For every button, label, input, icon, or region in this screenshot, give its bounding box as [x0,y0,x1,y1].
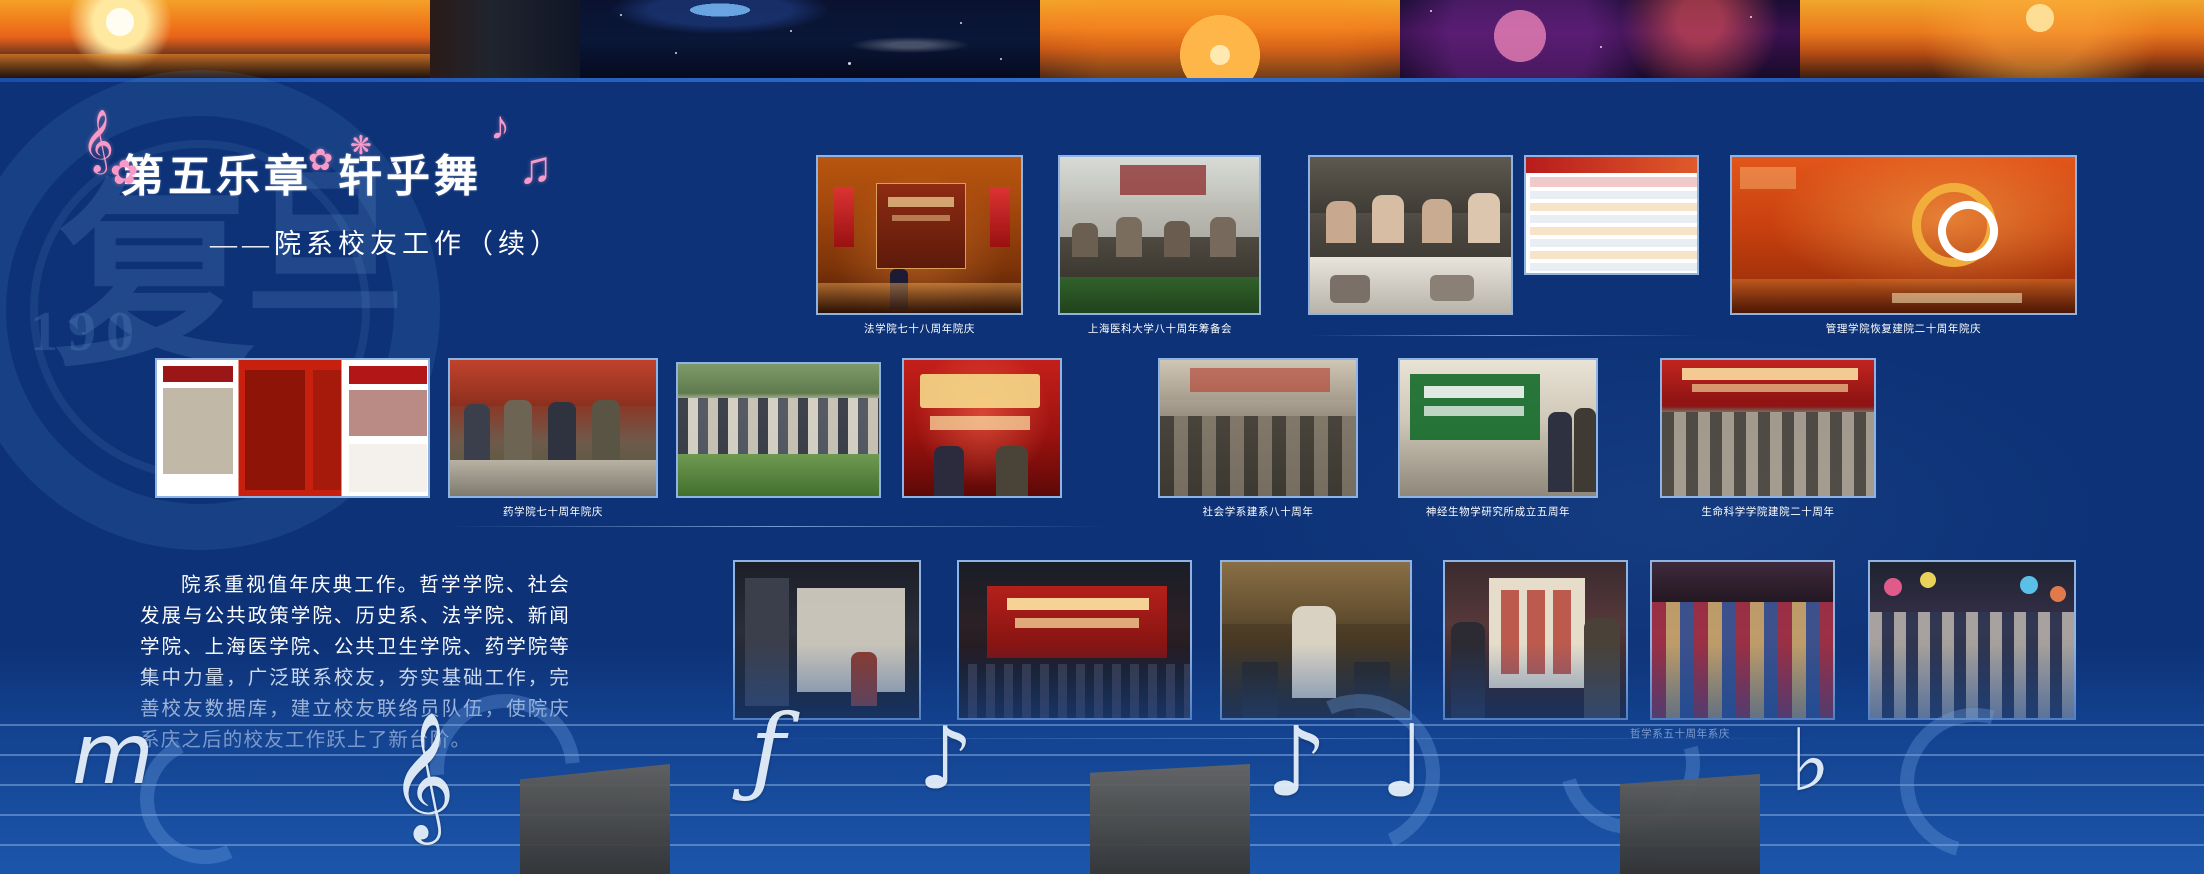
row2-separator [448,526,1108,527]
caption-row2-6: 神经生物学研究所成立五周年 [1398,504,1598,519]
petal-decor-icon: ❋ [350,132,372,158]
album-page: 复 旦 190 𝄞 ✿ ✿ ❋ ♪ ♫ 第五乐章轩乎舞 ——院系校友工作（续） … [0,0,2204,874]
banner-segment-dark [430,0,580,80]
stave-line-2 [0,754,2204,756]
photo-row2-6[interactable] [1398,358,1598,498]
caption-row1-1: 法学院七十八周年院庆 [816,321,1023,336]
stave-line-1 [0,724,2204,726]
note-decor-icon-2: ♫ [518,144,553,190]
caption-row2-2: 药学院七十周年院庆 [448,504,658,519]
bottom-photo-desk [1090,764,1250,874]
seal-year-watermark: 190 [30,300,144,364]
photo-row2-1[interactable] [155,358,430,498]
photo-row2-4[interactable] [902,358,1062,498]
banner-segment-sunset-left [0,0,430,80]
note-decor-icon: ♪ [490,106,510,146]
banner-segment-starfield [580,0,1040,80]
eighth-note-icon-2: ♪ [1266,714,1327,810]
flat-sign-icon: ♭ [1790,718,1831,804]
music-stave-decoration: m 𝄞 ƒ ♪ ♪ ♩ ♭ [0,644,2204,874]
photo-row2-2[interactable] [448,358,658,498]
photo-row1-5[interactable] [1730,155,2077,315]
cosmic-banner [0,0,2204,80]
title-block: 𝄞 ✿ ✿ ❋ ♪ ♫ 第五乐章轩乎舞 ——院系校友工作（续） [120,140,562,261]
photo-row1-2[interactable] [1058,155,1261,315]
eighth-note-icon: ♪ [918,716,973,802]
photo-row2-3[interactable] [676,362,881,498]
letter-m-glyph-icon: m [72,712,154,796]
banner-segment-sunset-mid [1040,0,1400,80]
caption-row2-7: 生命科学学院建院二十周年 [1660,504,1876,519]
row1-separator [1310,335,1698,336]
banner-divider [0,78,2204,82]
caption-row1-2: 上海医科大学八十周年筹备会 [1050,321,1270,336]
quarter-note-icon: ♩ [1380,712,1427,812]
photo-row1-1[interactable] [816,155,1023,315]
photo-row2-5[interactable] [1158,358,1358,498]
caption-row2-5: 社会学系建系八十周年 [1158,504,1358,519]
photo-row1-4[interactable] [1524,155,1699,275]
page-title: 第五乐章轩乎舞 [120,140,562,204]
bottom-photo-flutes [520,764,670,874]
page-subtitle: ——院系校友工作（续） [210,222,562,261]
bottom-photo-portrait [1620,774,1760,874]
treble-clef-icon: 𝄞 [390,720,455,830]
banner-segment-sunset-right [1800,0,2204,80]
banner-segment-nebula [1400,0,1800,80]
photo-row2-7[interactable] [1660,358,1876,498]
caption-row1-5: 管理学院恢复建院二十周年院庆 [1730,321,2077,336]
chapter-number-label: 第五乐章 [120,152,312,201]
forte-glyph-icon: ƒ [750,702,786,798]
flower-decor-icon: ✿ [110,156,139,190]
photo-row1-3[interactable] [1308,155,1513,315]
flower-decor-icon-2: ✿ [308,146,333,176]
